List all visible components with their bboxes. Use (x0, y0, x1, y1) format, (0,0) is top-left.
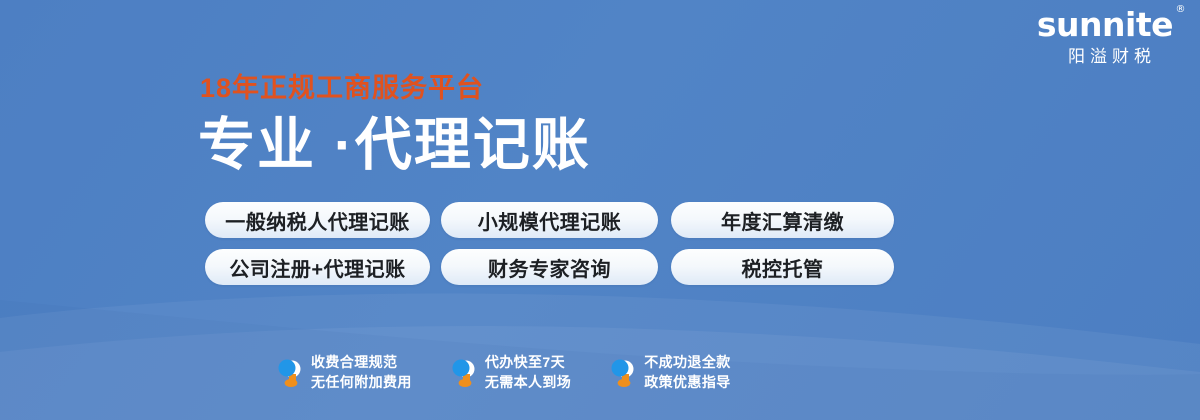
service-pill[interactable]: 公司注册+代理记账 (205, 249, 430, 285)
feature-line-1: 不成功退全款 (644, 352, 730, 372)
feature-line-2: 无需本人到场 (485, 372, 571, 392)
registered-trademark-icon: ® (1176, 5, 1186, 15)
blue-orange-dot-icon (450, 356, 476, 388)
feature-item: 代办快至7天 无需本人到场 (450, 352, 571, 393)
logo-subtitle: 阳溢财税 (1037, 48, 1182, 65)
blue-orange-dot-icon (609, 356, 635, 388)
service-pill[interactable]: 年度汇算清缴 (671, 202, 894, 238)
promo-banner: sunnite ® 阳溢财税 18年正规工商服务平台 专业 ·代理记账 一般纳税… (0, 0, 1200, 420)
hero-headline: 专业 ·代理记账 (198, 113, 591, 179)
feature-item: 收费合理规范 无任何附加费用 (276, 352, 412, 393)
feature-item: 不成功退全款 政策优惠指导 (609, 352, 730, 393)
hero-kicker: 18年正规工商服务平台 (200, 75, 484, 102)
service-pill[interactable]: 税控托管 (671, 249, 894, 285)
service-pill-row: 公司注册+代理记账 财务专家咨询 税控托管 (205, 249, 905, 285)
feature-line-2: 无任何附加费用 (311, 372, 412, 392)
feature-list: 收费合理规范 无任何附加费用 代办快至7天 无需本人到场 (276, 352, 731, 393)
service-pill-group: 一般纳税人代理记账 小规模代理记账 年度汇算清缴 公司注册+代理记账 财务专家咨… (205, 202, 905, 296)
logo-wordmark-text: sunnite (1037, 5, 1173, 44)
service-pill-row: 一般纳税人代理记账 小规模代理记账 年度汇算清缴 (205, 202, 905, 238)
feature-text: 代办快至7天 无需本人到场 (485, 352, 571, 393)
feature-line-1: 收费合理规范 (311, 352, 412, 372)
blue-orange-dot-icon (276, 356, 302, 388)
feature-text: 收费合理规范 无任何附加费用 (311, 352, 412, 393)
feature-text: 不成功退全款 政策优惠指导 (644, 352, 730, 393)
service-pill[interactable]: 小规模代理记账 (441, 202, 658, 238)
feature-line-2: 政策优惠指导 (644, 372, 730, 392)
service-pill[interactable]: 财务专家咨询 (441, 249, 658, 285)
feature-line-1: 代办快至7天 (485, 352, 571, 372)
brand-logo: sunnite ® 阳溢财税 (1037, 8, 1182, 65)
service-pill[interactable]: 一般纳税人代理记账 (205, 202, 430, 238)
logo-wordmark: sunnite ® (1037, 8, 1182, 41)
